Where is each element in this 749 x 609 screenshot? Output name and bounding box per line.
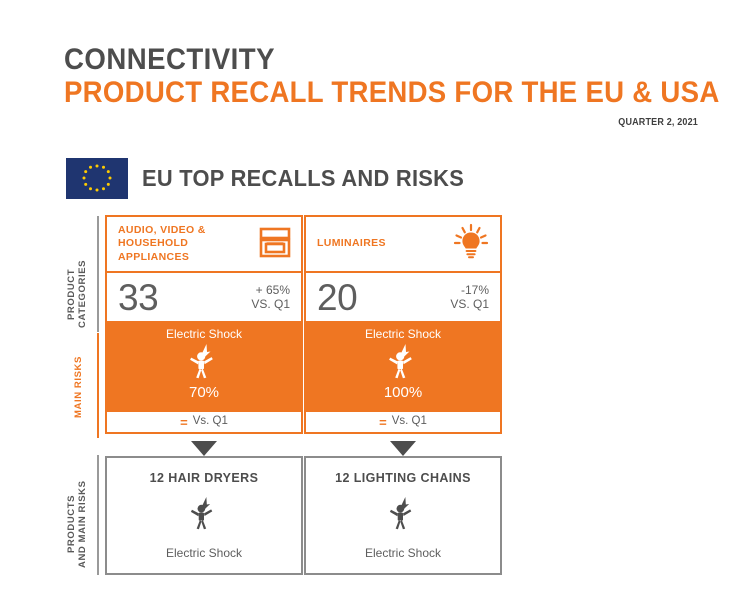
risk-trend-row: = Vs. Q1: [306, 412, 500, 432]
electric-shock-icon: [387, 496, 419, 535]
flow-arrow-icon: [191, 441, 217, 456]
category-card[interactable]: AUDIO, VIDEO & HOUSEHOLD APPLIANCES 33 +…: [105, 215, 303, 434]
flow-arrow-icon: [390, 441, 416, 456]
recall-count-row: 20 -17% VS. Q1: [306, 273, 500, 321]
recall-count: 20: [317, 279, 357, 316]
risk-trend-row: = Vs. Q1: [107, 412, 301, 432]
main-risk-name: Electric Shock: [365, 327, 441, 341]
section-title: EU TOP RECALLS AND RISKS: [142, 165, 464, 192]
quarter-label: QUARTER 2, 2021: [127, 117, 698, 128]
section-header: EU TOP RECALLS AND RISKS: [66, 158, 481, 199]
main-risk-percent: 70%: [189, 385, 219, 402]
page-title-primary: CONNECTIVITY: [64, 44, 653, 76]
product-box[interactable]: 12 LIGHTING CHAINS Electric Shock: [304, 456, 502, 575]
trend-equal-icon: =: [180, 416, 188, 429]
recall-count: 33: [118, 279, 158, 316]
category-name: AUDIO, VIDEO & HOUSEHOLD APPLIANCES: [118, 224, 206, 264]
main-risk-panel: Electric Shock 100%: [306, 321, 500, 412]
axis-label-main-risks: MAIN RISKS: [73, 356, 84, 418]
lightbulb-icon: [451, 222, 491, 267]
category-name: LUMINAIRES: [317, 237, 386, 250]
axis-label-products-and-main-risks: PRODUCTS AND MAIN RISKS: [66, 470, 88, 578]
category-header: AUDIO, VIDEO & HOUSEHOLD APPLIANCES: [107, 217, 301, 273]
category-header: LUMINAIRES: [306, 217, 500, 273]
product-risk: Electric Shock: [166, 546, 242, 560]
electric-shock-icon: [188, 496, 220, 535]
trend-label: Vs. Q1: [193, 416, 228, 428]
product-box[interactable]: 12 HAIR DRYERS Electric Shock: [105, 456, 303, 575]
electric-shock-icon: [386, 343, 420, 384]
recall-count-row: 33 + 65% VS. Q1: [107, 273, 301, 321]
trend-equal-icon: =: [379, 416, 387, 429]
page-title-secondary: PRODUCT RECALL TRENDS FOR THE EU & USA: [64, 76, 653, 110]
oven-icon: [258, 225, 292, 264]
main-risk-name: Electric Shock: [166, 327, 242, 341]
axis-rule-main-risks: [97, 333, 99, 438]
main-risk-panel: Electric Shock 70%: [107, 321, 301, 412]
eu-flag-stars: [66, 158, 128, 199]
axis-rule-products-and-main-risks: [97, 455, 99, 575]
axis-label-product-categories: PRODUCT CATEGORIES: [66, 246, 88, 342]
eu-flag-icon: [66, 158, 128, 199]
trend-label: Vs. Q1: [392, 416, 427, 428]
axis-rule-product-categories: [97, 216, 99, 332]
main-risk-percent: 100%: [384, 385, 422, 402]
recall-delta: -17% VS. Q1: [450, 283, 489, 312]
category-card[interactable]: LUMINAIRES: [304, 215, 502, 434]
recall-delta: + 65% VS. Q1: [251, 283, 290, 312]
product-name: 12 HAIR DRYERS: [150, 471, 259, 485]
product-name: 12 LIGHTING CHAINS: [335, 471, 471, 485]
page-header: CONNECTIVITY PRODUCT RECALL TRENDS FOR T…: [64, 44, 704, 128]
product-risk: Electric Shock: [365, 546, 441, 560]
electric-shock-icon: [187, 343, 221, 384]
